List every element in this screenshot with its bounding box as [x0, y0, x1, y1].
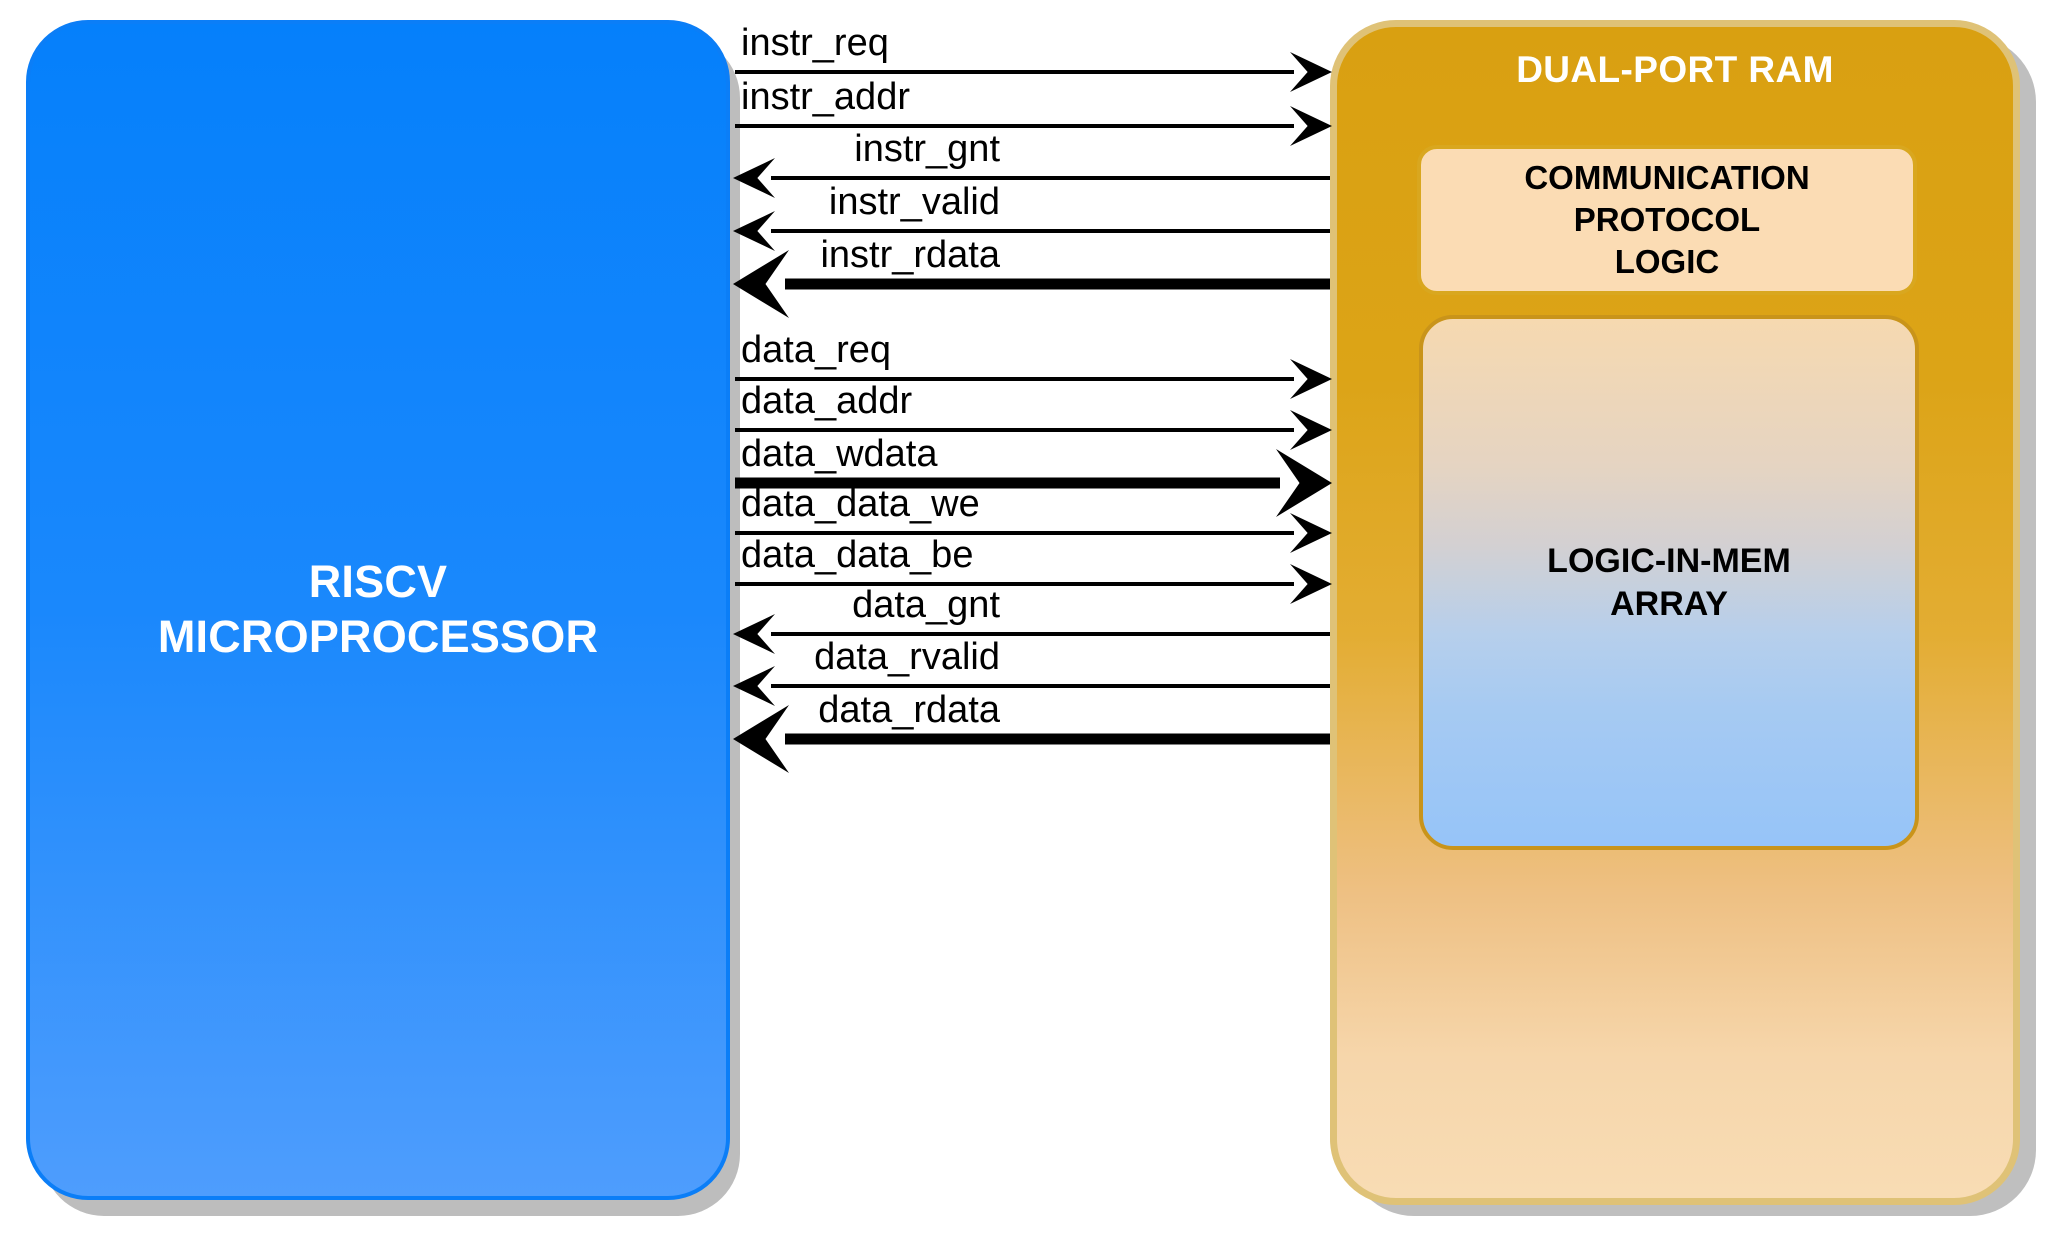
signal-label-data-addr: data_addr [741, 382, 912, 420]
signal-arrow-layer [0, 0, 2063, 1236]
signal-label-data-req: data_req [741, 331, 891, 369]
signal-label-data-data-be: data_data_be [741, 536, 973, 574]
signal-label-instr-req: instr_req [741, 24, 889, 62]
signal-label-data-wdata: data_wdata [741, 435, 938, 473]
signal-label-data-rvalid: data_rvalid [814, 638, 1000, 676]
signal-label-instr-addr: instr_addr [741, 78, 910, 116]
signal-label-data-rdata: data_rdata [818, 691, 1000, 729]
signal-label-instr-rdata: instr_rdata [820, 236, 1000, 274]
diagram-canvas: RISCV MICROPROCESSOR DUAL-PORT RAM COMMU… [0, 0, 2063, 1236]
signal-arrow-instr-gnt [733, 158, 1330, 198]
signal-label-instr-valid: instr_valid [829, 183, 1000, 221]
signal-label-data-data-we: data_data_we [741, 485, 980, 523]
signal-label-data-gnt: data_gnt [852, 586, 1000, 624]
signal-label-instr-gnt: instr_gnt [854, 130, 1000, 168]
